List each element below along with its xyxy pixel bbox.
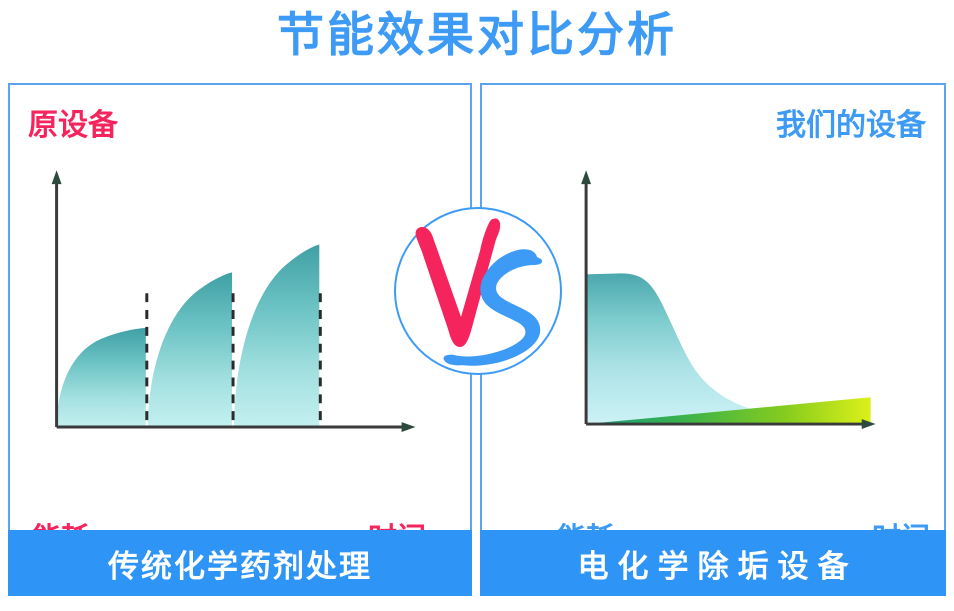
left-x-axis-arrow — [402, 422, 416, 432]
bottom-caption-ours: 电化学除垢设备 — [480, 530, 946, 596]
left-cycle-3-area — [234, 245, 319, 427]
page-title: 节能效果对比分析 — [0, 4, 954, 66]
left-cycle-2-area — [148, 272, 232, 427]
right-x-axis-arrow — [862, 419, 876, 429]
vs-badge — [392, 205, 564, 377]
bottom-caption-original: 传统化学药剂处理 — [8, 530, 472, 596]
left-y-axis-arrow — [52, 170, 62, 184]
panel-label-original: 原设备 — [28, 107, 118, 145]
left-cycle-1-area — [57, 328, 146, 427]
right-saving-wedge — [586, 397, 871, 424]
right-consumption-area — [586, 273, 871, 424]
panel-label-ours: 我们的设备 — [776, 107, 926, 145]
right-y-axis-arrow — [581, 170, 591, 184]
infographic-root: 节能效果对比分析 原设备 — [0, 0, 954, 611]
